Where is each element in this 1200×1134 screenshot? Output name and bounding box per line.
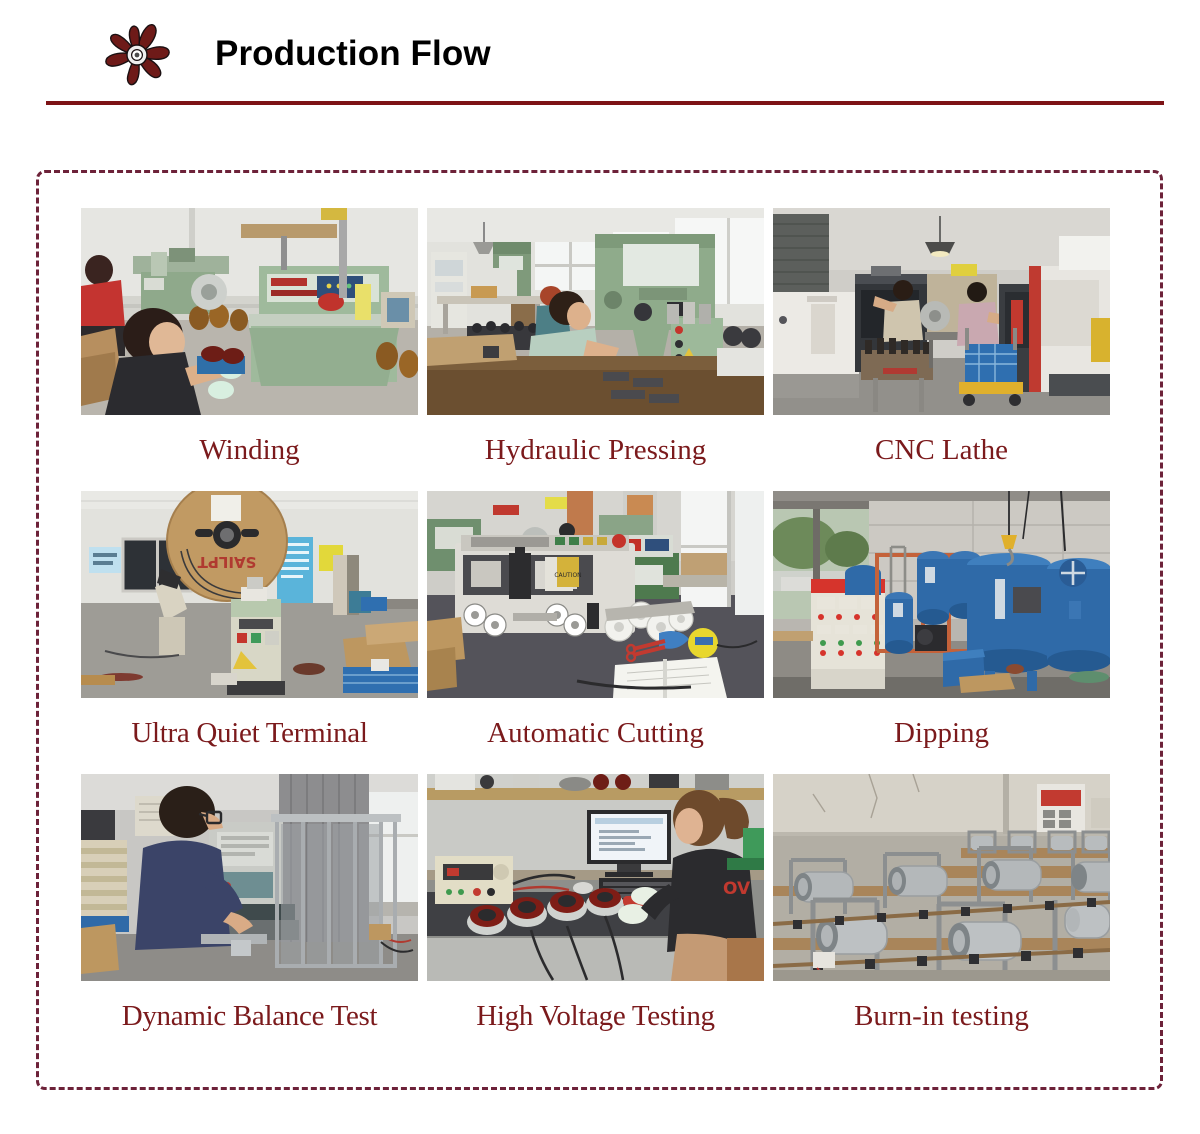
flow-step-winding[interactable]: Winding xyxy=(81,208,418,491)
flow-row: Winding xyxy=(81,208,1111,491)
flow-caption: High Voltage Testing xyxy=(427,999,764,1033)
flow-step-automatic-cutting[interactable]: CAUTION xyxy=(427,491,764,774)
flow-row: Dynamic Balance Test xyxy=(81,774,1111,1057)
flow-row: SAILPT xyxy=(81,491,1111,774)
svg-text:OV: OV xyxy=(723,879,751,899)
page-title: Production Flow xyxy=(215,29,491,79)
flow-caption: Burn-in testing xyxy=(773,999,1110,1033)
flow-caption: CNC Lathe xyxy=(773,433,1110,467)
flow-step-dipping[interactable]: Dipping xyxy=(773,491,1110,774)
flow-step-dynamic-balance-test[interactable]: Dynamic Balance Test xyxy=(81,774,418,1057)
flow-step-burn-in-testing[interactable]: Burn-in testing xyxy=(773,774,1110,1057)
high-voltage-testing-photo: OV xyxy=(427,774,764,981)
production-flow-grid: Winding xyxy=(81,208,1111,1058)
flow-caption: Winding xyxy=(81,433,418,467)
fan-impeller-icon xyxy=(98,22,176,88)
flow-step-hydraulic-pressing[interactable]: Hydraulic Pressing xyxy=(427,208,764,491)
dynamic-balance-test-photo xyxy=(81,774,418,981)
production-flow-page: Production Flow xyxy=(0,0,1200,1134)
ultra-quiet-terminal-photo: SAILPT xyxy=(81,491,418,698)
flow-caption: Ultra Quiet Terminal xyxy=(81,716,418,750)
winding-photo xyxy=(81,208,418,415)
automatic-cutting-photo: CAUTION xyxy=(427,491,764,698)
dipping-photo xyxy=(773,491,1110,698)
flow-step-high-voltage-testing[interactable]: OV High Voltage Testing xyxy=(427,774,764,1057)
flow-caption: Dipping xyxy=(773,716,1110,750)
svg-text:SAILPT: SAILPT xyxy=(197,553,257,571)
hydraulic-pressing-photo xyxy=(427,208,764,415)
burn-in-testing-photo xyxy=(773,774,1110,981)
flow-caption: Hydraulic Pressing xyxy=(427,433,764,467)
page-header: Production Flow xyxy=(0,0,1200,105)
flow-caption: Dynamic Balance Test xyxy=(81,999,418,1033)
flow-step-cnc-lathe[interactable]: CNC Lathe xyxy=(773,208,1110,491)
flow-step-ultra-quiet-terminal[interactable]: SAILPT xyxy=(81,491,418,774)
flow-caption: Automatic Cutting xyxy=(427,716,764,750)
header-divider xyxy=(46,101,1164,105)
svg-text:CAUTION: CAUTION xyxy=(554,572,581,579)
cnc-lathe-photo xyxy=(773,208,1110,415)
